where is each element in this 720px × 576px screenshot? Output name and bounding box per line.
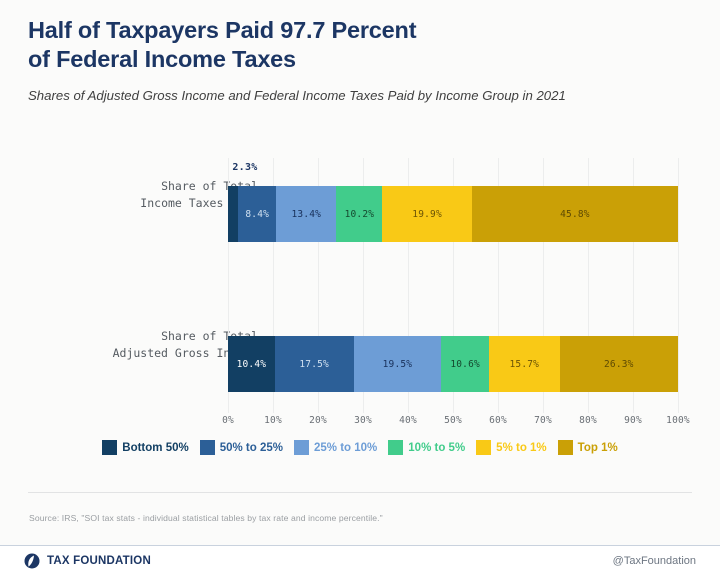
x-axis-tick-label: 40%: [399, 415, 417, 426]
social-handle: @TaxFoundation: [613, 555, 696, 567]
legend-swatch-icon: [476, 440, 491, 455]
stacked-bar-income-taxes-paid[interactable]: 8.4%13.4%10.2%19.9%45.8%: [228, 186, 678, 242]
tax-foundation-logo-icon: [24, 553, 40, 569]
gridline: [678, 158, 679, 413]
legend-label: Bottom 50%: [122, 442, 188, 454]
legend-item[interactable]: Bottom 50%: [102, 440, 188, 455]
footer-bar: TAX FOUNDATION @TaxFoundation: [0, 545, 720, 576]
x-axis-tick-label: 90%: [624, 415, 642, 426]
legend-swatch-icon: [294, 440, 309, 455]
x-axis-tick-label: 30%: [354, 415, 372, 426]
legend-label: 5% to 1%: [496, 442, 547, 454]
bar-segment[interactable]: 8.4%: [238, 186, 276, 242]
x-axis-tick-label: 10%: [264, 415, 282, 426]
bar-segment[interactable]: 19.5%: [354, 336, 442, 392]
source-note: Source: IRS, "SOI tax stats - individual…: [29, 513, 383, 523]
chart-header: Half of Taxpayers Paid 97.7 Percent of F…: [28, 16, 688, 105]
legend-item[interactable]: 5% to 1%: [476, 440, 547, 455]
bar-segment[interactable]: 19.9%: [382, 186, 472, 242]
legend-swatch-icon: [200, 440, 215, 455]
x-axis-tick-label: 70%: [534, 415, 552, 426]
chart-legend: Bottom 50%50% to 25%25% to 10%10% to 5%5…: [0, 440, 720, 455]
x-axis-tick-label: 100%: [666, 415, 690, 426]
annotation-bottom50-share: 2.3%: [232, 162, 257, 173]
chart-page: Half of Taxpayers Paid 97.7 Percent of F…: [0, 0, 720, 576]
x-axis-tick-label: 0%: [222, 415, 234, 426]
legend-swatch-icon: [102, 440, 117, 455]
bar-segment[interactable]: [228, 186, 238, 242]
brand: TAX FOUNDATION: [24, 553, 151, 569]
x-axis-tick-label: 50%: [444, 415, 462, 426]
bar-segment[interactable]: 13.4%: [276, 186, 336, 242]
bar-segment[interactable]: 26.3%: [560, 336, 678, 392]
legend-label: 10% to 5%: [408, 442, 465, 454]
chart-subtitle: Shares of Adjusted Gross Income and Fede…: [28, 86, 668, 105]
legend-swatch-icon: [388, 440, 403, 455]
legend-label: 25% to 10%: [314, 442, 377, 454]
bar-segment[interactable]: 10.2%: [336, 186, 382, 242]
bar-segment[interactable]: 17.5%: [275, 336, 354, 392]
legend-item[interactable]: Top 1%: [558, 440, 618, 455]
x-axis: 0%10%20%30%40%50%60%70%80%90%100%: [228, 413, 678, 433]
x-axis-tick-label: 80%: [579, 415, 597, 426]
divider: [28, 492, 692, 493]
legend-swatch-icon: [558, 440, 573, 455]
plot-area: 2.3% 8.4%13.4%10.2%19.9%45.8% 10.4%17.5%…: [228, 158, 678, 413]
legend-item[interactable]: 25% to 10%: [294, 440, 377, 455]
bar-segment[interactable]: 10.4%: [228, 336, 275, 392]
bar-segment[interactable]: 15.7%: [489, 336, 560, 392]
bar-segment[interactable]: 10.6%: [441, 336, 489, 392]
legend-item[interactable]: 50% to 25%: [200, 440, 283, 455]
page-title: Half of Taxpayers Paid 97.7 Percent of F…: [28, 16, 688, 73]
bar-segment[interactable]: 45.8%: [472, 186, 678, 242]
x-axis-tick-label: 20%: [309, 415, 327, 426]
stacked-bar-adjusted-gross-income[interactable]: 10.4%17.5%19.5%10.6%15.7%26.3%: [228, 336, 678, 392]
brand-name: TAX FOUNDATION: [47, 555, 151, 567]
legend-label: Top 1%: [578, 442, 618, 454]
chart-plot-wrapper: Share of Total Income Taxes Paid Share o…: [0, 140, 720, 430]
legend-item[interactable]: 10% to 5%: [388, 440, 465, 455]
x-axis-tick-label: 60%: [489, 415, 507, 426]
legend-label: 50% to 25%: [220, 442, 283, 454]
